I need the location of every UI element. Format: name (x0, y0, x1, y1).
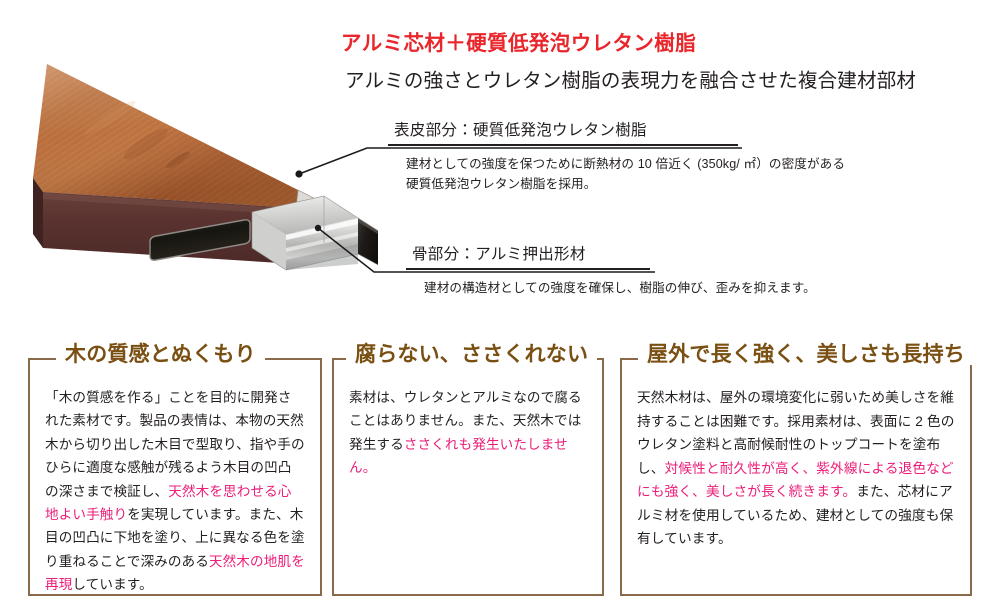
hero-section: アルミ芯材＋硬質低発泡ウレタン樹脂 アルミの強さとウレタン樹脂の表現力を融合させ… (0, 0, 1000, 322)
feature-box-3-heading: 屋外で長く強く、美しさも長持ち (638, 343, 974, 365)
callout-frame-underline (406, 268, 650, 270)
feature-boxes-section: 木の質感とぬくもり 「木の質感を作る」ことを目的に開発された素材です。製品の表情… (0, 332, 1000, 612)
body-text: しています。 (72, 577, 152, 592)
feature-box-1-body: 「木の質感を作る」ことを目的に開発された素材です。製品の表情は、本物の天然木から… (30, 360, 320, 606)
page-title-sub: アルミの強さとウレタン樹脂の表現力を融合させた複合建材部材 (345, 64, 916, 93)
feature-box-2-heading: 腐らない、ささくれない (346, 343, 597, 365)
page-title-main: アルミ芯材＋硬質低発泡ウレタン樹脂 (341, 26, 696, 56)
callout-skin-title: 表皮部分：硬質低発泡ウレタン樹脂 (388, 118, 970, 144)
feature-box-2-body: 素材は、ウレタンとアルミなので腐ることはありません。また、天然木では発生するささ… (334, 360, 602, 490)
product-cutaway-illustration (28, 12, 378, 302)
callout-skin: 表皮部分：硬質低発泡ウレタン樹脂 建材としての強度を保つために断熱材の 10 倍… (388, 118, 970, 194)
callout-skin-underline (388, 144, 738, 146)
feature-box-texture-and-warmth: 木の質感とぬくもり 「木の質感を作る」ことを目的に開発された素材です。製品の表情… (28, 358, 322, 596)
callout-frame-body: 建材の構造材としての強度を確保し、樹脂の伸び、歪みを抑えます。 (406, 278, 966, 298)
feature-box-no-rot-no-splinter: 腐らない、ささくれない 素材は、ウレタンとアルミなので腐ることはありません。また… (332, 358, 604, 596)
callout-frame-title: 骨部分：アルミ押出形材 (406, 242, 966, 268)
plank-top-wood-face (33, 64, 298, 208)
feature-box-1-heading: 木の質感とぬくもり (56, 343, 265, 365)
callout-frame: 骨部分：アルミ押出形材 建材の構造材としての強度を確保し、樹脂の伸び、歪みを抑え… (406, 242, 966, 298)
body-text: 「木の質感を作る」ことを目的に開発された素材です。製品の表情は、本物の天然木から… (45, 390, 305, 499)
callout-skin-body: 建材としての強度を保つために断熱材の 10 倍近く (350kg/ ㎡）の密度が… (388, 154, 970, 195)
infographic-page: アルミ芯材＋硬質低発泡ウレタン樹脂 アルミの強さとウレタン樹脂の表現力を融合させ… (0, 0, 1000, 615)
feature-box-outdoor-durability: 屋外で長く強く、美しさも長持ち 天然木材は、屋外の環境変化に弱いため美しさを維持… (620, 358, 972, 596)
feature-box-3-body: 天然木材は、屋外の環境変化に弱いため美しさを維持することは困難です。採用素材は、… (622, 360, 970, 561)
